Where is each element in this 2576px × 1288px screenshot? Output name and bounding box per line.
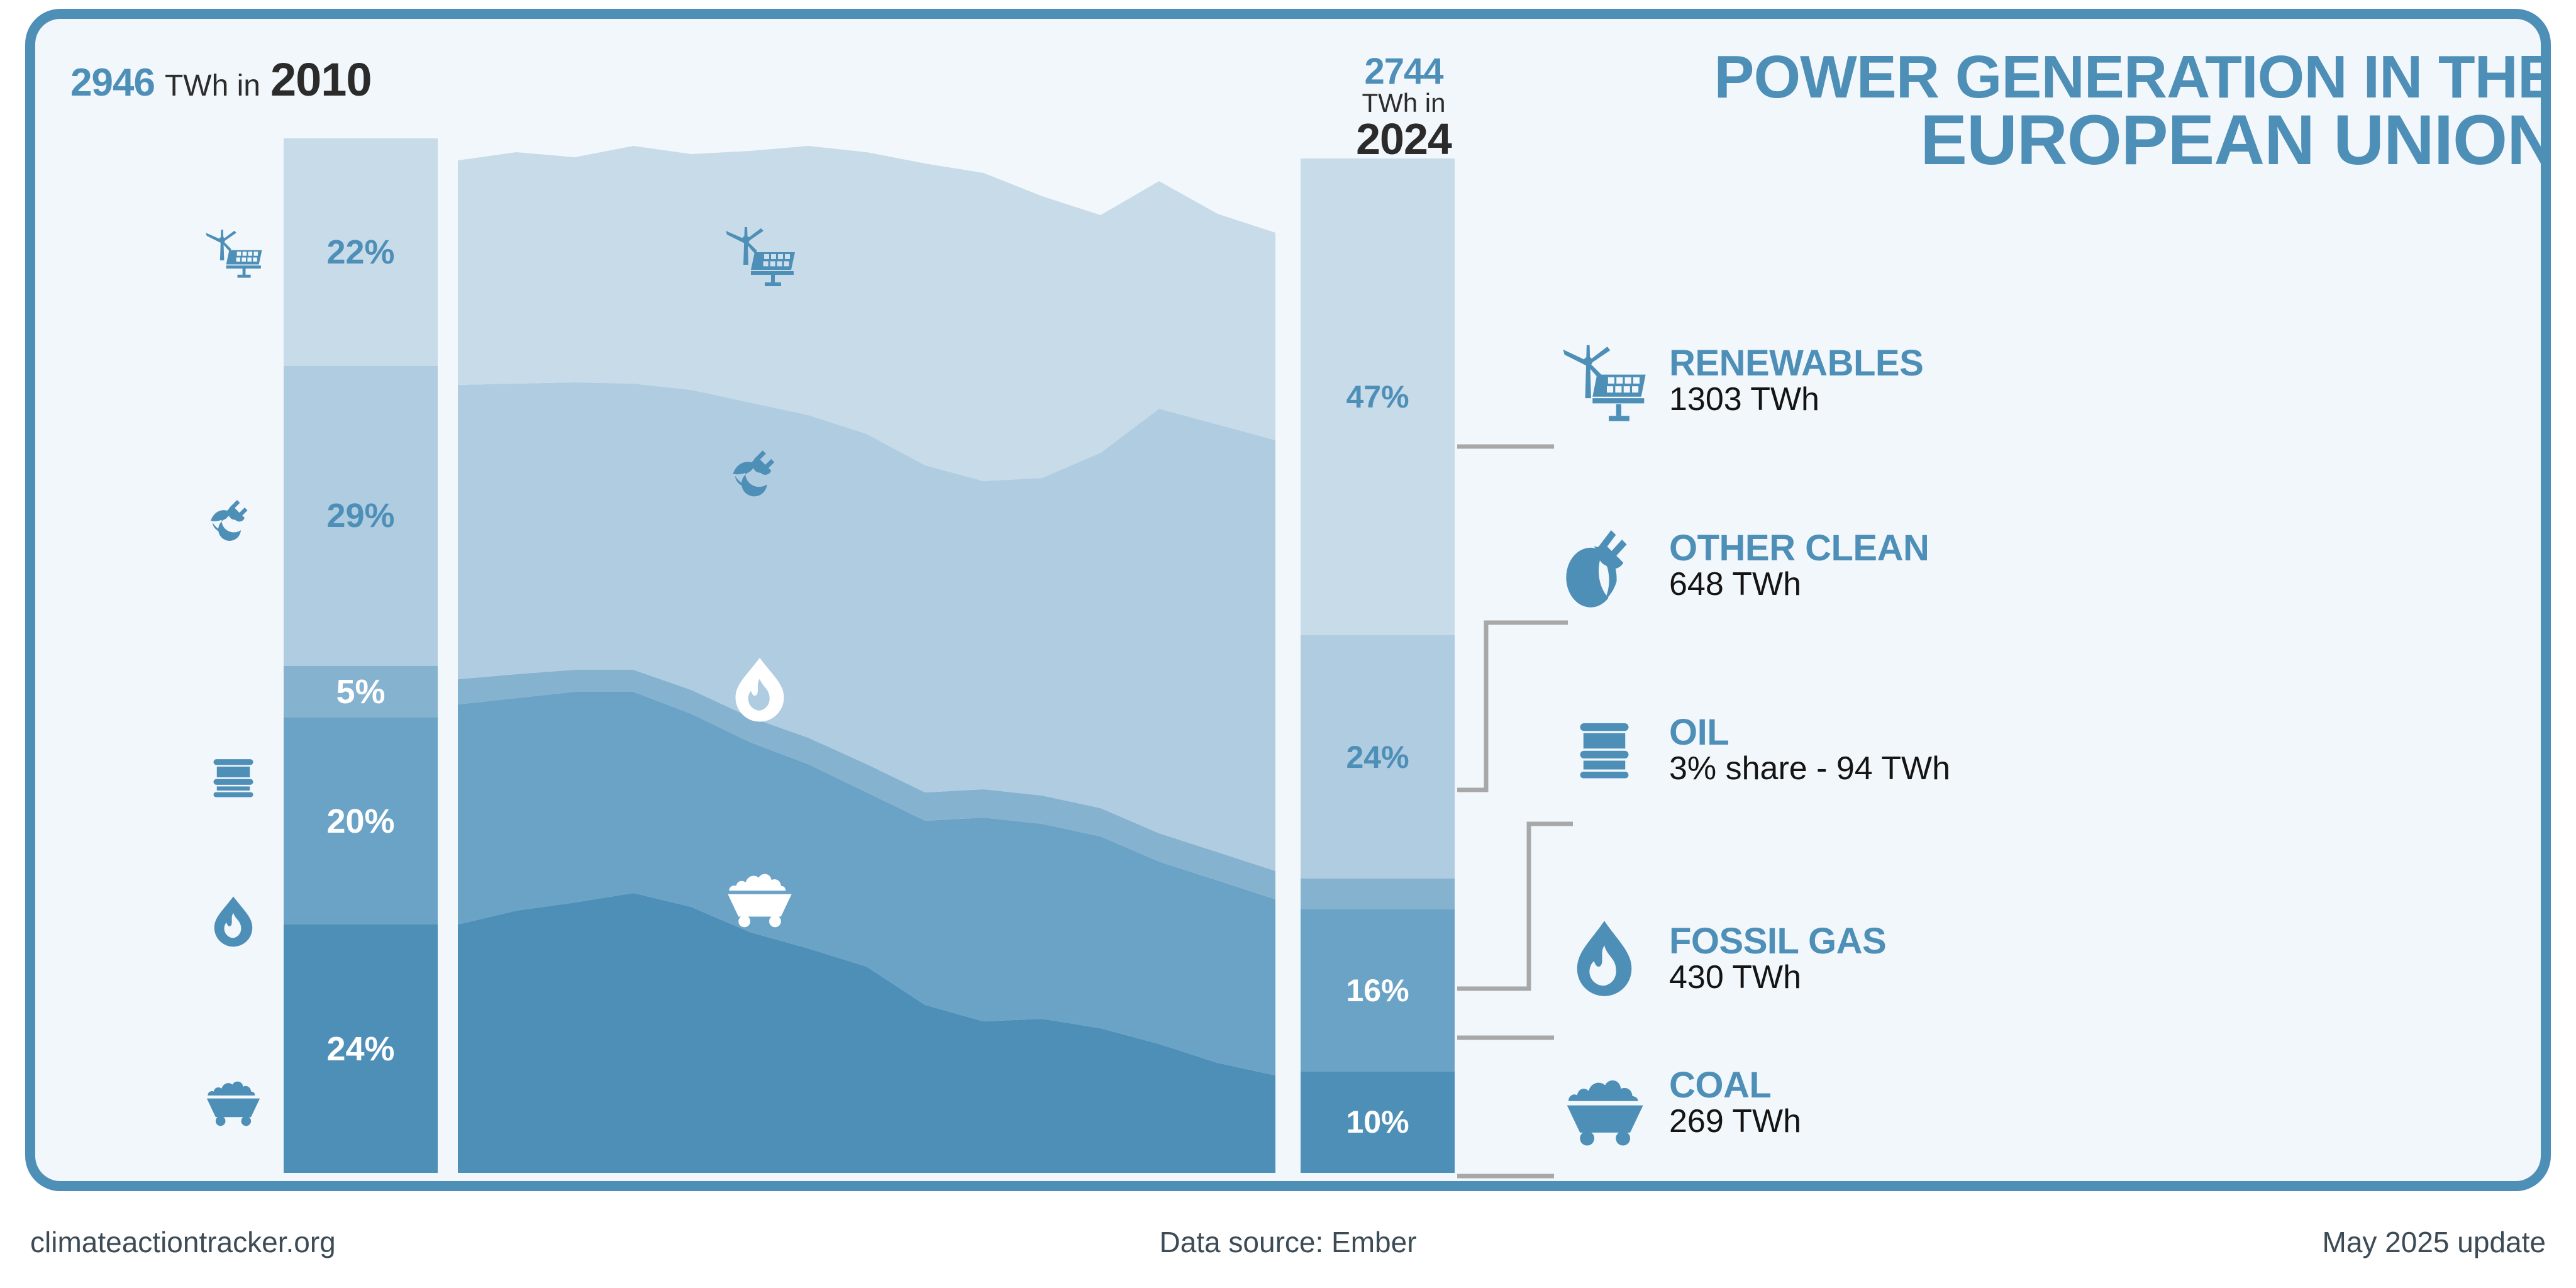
legend-label-other-clean: OTHER CLEAN: [1669, 529, 1929, 567]
oil-barrel-icon: [192, 751, 274, 804]
legend-label-coal: COAL: [1669, 1066, 1801, 1104]
connector-oil: [1457, 824, 1573, 989]
legend-value-renewables: 1303 TWh: [1669, 382, 1923, 417]
legend-text-coal: COAL 269 TWh: [1669, 1066, 1801, 1140]
legend-value-oil: 3% share - 94 TWh: [1669, 752, 1950, 786]
legend-value-coal: 269 TWh: [1669, 1104, 1801, 1139]
footer-source: Data source: Ember: [1159, 1225, 1416, 1259]
stream-flame-icon: [724, 653, 795, 724]
footer: climateactiontracker.org Data source: Em…: [25, 1214, 2551, 1270]
plug-leaf-icon: [192, 489, 274, 549]
legend-item-renewables[interactable]: RENEWABLES 1303 TWh: [1557, 333, 1923, 428]
page-title: POWER GENERATION IN THE EUROPEAN UNION: [1519, 48, 2551, 175]
title-line-2: EUROPEAN UNION: [1519, 106, 2551, 175]
card-frame: 2946 TWh in 2010 2744 TWh in 2024 POWER …: [25, 9, 2551, 1191]
legend-text-renewables: RENEWABLES 1303 TWh: [1669, 344, 1923, 418]
twh-in-label-2010: TWh in: [165, 69, 260, 103]
flame-icon: [1557, 917, 1652, 1000]
wind-solar-icon: [1557, 333, 1652, 428]
footer-website[interactable]: climateactiontracker.org: [30, 1225, 336, 1259]
bar-2024-segment-coal[interactable]: 10%: [1301, 1072, 1455, 1173]
stream-plug-leaf-icon: [724, 438, 792, 506]
header-2010: 2946 TWh in 2010: [70, 53, 372, 106]
area-chart: [458, 138, 1275, 1173]
coal-cart-icon: [1557, 1057, 1652, 1148]
bar-2024-segment-oil[interactable]: [1301, 879, 1455, 909]
legend-value-fossil-gas: 430 TWh: [1669, 960, 1886, 995]
plug-leaf-icon: [1557, 522, 1652, 609]
connector-other-clean: [1457, 623, 1568, 790]
legend-value-other-clean: 648 TWh: [1669, 567, 1929, 602]
oil-barrel-icon: [1557, 714, 1652, 785]
legend-connectors: [1453, 138, 1617, 1191]
legend-label-renewables: RENEWABLES: [1669, 344, 1923, 382]
total-twh-2024: 2744: [1322, 53, 1485, 90]
legend-text-fossil-gas: FOSSIL GAS 430 TWh: [1669, 922, 1886, 996]
stream-wind-solar-icon: [719, 214, 800, 295]
legend-item-other-clean[interactable]: OTHER CLEAN 648 TWh: [1557, 522, 1929, 609]
bar-2024-segment-renewables[interactable]: 47%: [1301, 158, 1455, 635]
title-line-1: POWER GENERATION IN THE: [1519, 48, 2551, 106]
legend-label-fossil-gas: FOSSIL GAS: [1669, 922, 1886, 960]
bar-2010: 22% 29% 5% 20% 24%: [284, 138, 438, 1173]
twh-in-label-2024: TWh in: [1322, 90, 1485, 117]
year-label-2010: 2010: [270, 53, 372, 106]
flame-icon: [192, 893, 274, 948]
legend-item-fossil-gas[interactable]: FOSSIL GAS 430 TWh: [1557, 917, 1886, 1000]
legend-text-other-clean: OTHER CLEAN 648 TWh: [1669, 529, 1929, 602]
legend-label-oil: OIL: [1669, 713, 1950, 752]
total-twh-2010: 2946: [70, 60, 155, 105]
stream-coal-cart-icon: [722, 855, 797, 931]
legend-text-oil: OIL 3% share - 94 TWh: [1669, 713, 1950, 787]
bar-2010-segment-oil[interactable]: 5%: [284, 666, 438, 718]
bar-2010-segment-coal[interactable]: 24%: [284, 924, 438, 1173]
bar-2010-segment-renewables[interactable]: 22%: [284, 138, 438, 366]
infographic-root: 2946 TWh in 2010 2744 TWh in 2024 POWER …: [0, 0, 2576, 1288]
bar-2024-segment-fossil-gas[interactable]: 16%: [1301, 909, 1455, 1072]
legend-item-coal[interactable]: COAL 269 TWh: [1557, 1057, 1801, 1148]
coal-cart-icon: [192, 1066, 274, 1129]
category-icon-column: [192, 138, 274, 1173]
legend-item-oil[interactable]: OIL 3% share - 94 TWh: [1557, 713, 1950, 787]
bar-2010-segment-other-clean[interactable]: 29%: [284, 366, 438, 666]
bar-2024-segment-other-clean[interactable]: 24%: [1301, 635, 1455, 879]
bar-2010-segment-fossil-gas[interactable]: 20%: [284, 718, 438, 924]
bar-2024: 47% 24% 16% 10%: [1301, 158, 1455, 1173]
wind-solar-icon: [192, 219, 274, 285]
footer-update: May 2025 update: [2323, 1225, 2546, 1259]
